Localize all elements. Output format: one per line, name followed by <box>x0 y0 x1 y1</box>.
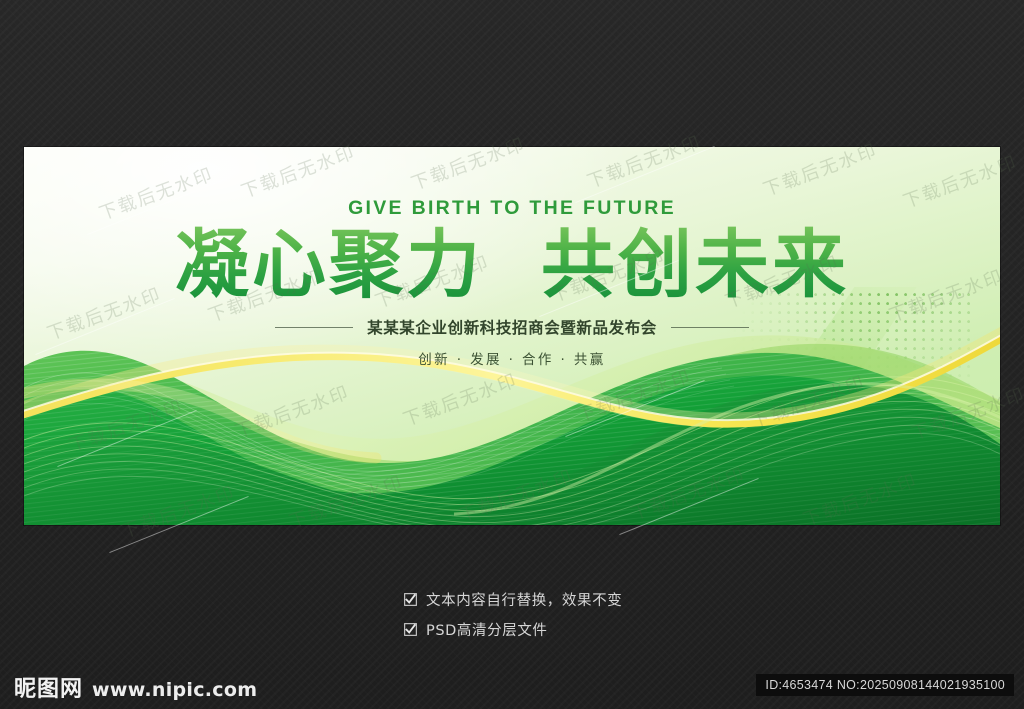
check-box-icon <box>404 623 417 636</box>
feature-list: 文本内容自行替换，效果不变 PSD高清分层文件 <box>404 584 622 644</box>
brand-logo[interactable]: 昵图网 www.nipic.com <box>14 671 257 703</box>
values-tagline: 创新 · 发展 · 合作 · 共赢 <box>24 348 1000 368</box>
subtitle-row: 某某某企业创新科技招商会暨新品发布会 <box>24 316 1000 338</box>
screenshot-root: GIVE BIRTH TO THE FUTURE 凝心聚力共创未来 某某某企业创… <box>0 0 1024 709</box>
poster-banner: GIVE BIRTH TO THE FUTURE 凝心聚力共创未来 某某某企业创… <box>24 147 1000 525</box>
poster-text-block: GIVE BIRTH TO THE FUTURE 凝心聚力共创未来 某某某企业创… <box>24 197 1000 368</box>
rule-left <box>275 327 353 328</box>
check-box-icon <box>404 593 417 606</box>
list-item: PSD高清分层文件 <box>404 614 622 644</box>
asset-id-badge: ID:4653474 NO:20250908144021935100 <box>756 674 1014 696</box>
site-footer: 昵图网 www.nipic.com ID:4653474 NO:20250908… <box>0 665 1024 709</box>
eyebrow-tagline: GIVE BIRTH TO THE FUTURE <box>24 197 1000 220</box>
headline-part-left: 凝心聚力 <box>175 222 483 308</box>
headline-part-right: 共创未来 <box>541 222 849 308</box>
feature-label: 文本内容自行替换，效果不变 <box>426 589 622 610</box>
rule-right <box>671 327 749 328</box>
page-title: 凝心聚力共创未来 <box>24 226 1000 304</box>
feature-label: PSD高清分层文件 <box>426 619 548 640</box>
brand-url: www.nipic.com <box>92 679 257 701</box>
event-subtitle: 某某某企业创新科技招商会暨新品发布会 <box>367 316 657 338</box>
brand-name-cn: 昵图网 <box>14 671 83 703</box>
list-item: 文本内容自行替换，效果不变 <box>404 584 622 614</box>
